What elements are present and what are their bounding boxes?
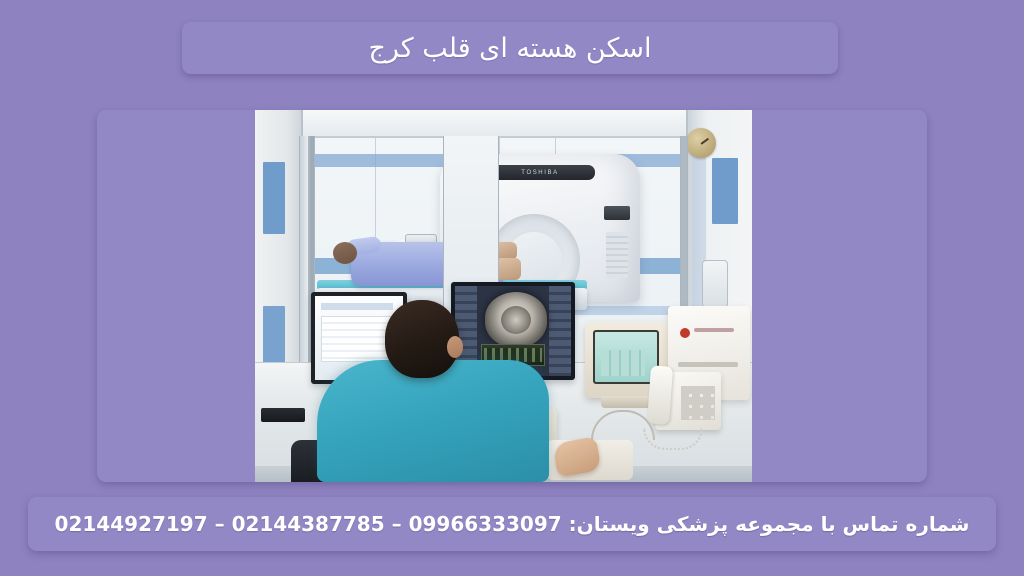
technician-ear <box>447 336 463 358</box>
equipment-slot <box>678 362 738 367</box>
contact-phone-line[interactable]: شماره تماس با مجموعه پزشکی ویستان: 09966… <box>55 512 970 536</box>
page-title-bar: اسکن هسته ای قلب کرج <box>182 22 838 74</box>
crt-monitor-stand <box>601 396 653 408</box>
wall-accent-tile <box>712 158 738 224</box>
page-title: اسکن هسته ای قلب کرج <box>368 35 651 62</box>
left-wall-panel <box>255 110 303 402</box>
technician-torso <box>317 360 549 482</box>
brain-scan-image <box>485 292 547 348</box>
equipment-label <box>694 328 734 332</box>
door-header <box>255 110 752 138</box>
scanner-brand-label: TOSHIBA <box>485 165 595 180</box>
wall-dispenser <box>702 260 728 308</box>
phone-handset <box>647 365 673 424</box>
imaging-toolbar-right <box>549 286 571 376</box>
ct-scan-room-photo: TOSHIBA <box>255 110 752 482</box>
wall-clock <box>686 128 716 158</box>
page-root: { "page": { "language": "fa", "direction… <box>0 0 1024 576</box>
scanner-display-panel <box>604 206 630 220</box>
contact-banner[interactable]: شماره تماس با مجموعه پزشکی ویستان: 09966… <box>28 497 996 551</box>
crt-monitor-screen <box>593 330 659 384</box>
secondary-keyboard <box>261 408 305 422</box>
phone-keypad <box>681 386 715 420</box>
patient-head <box>333 242 357 264</box>
desk-phone <box>655 372 721 430</box>
equipment-logo-icon <box>680 328 690 338</box>
wall-accent-tile <box>263 162 285 234</box>
scanner-keypad-right <box>606 232 628 278</box>
photo-scene: TOSHIBA <box>255 110 752 482</box>
